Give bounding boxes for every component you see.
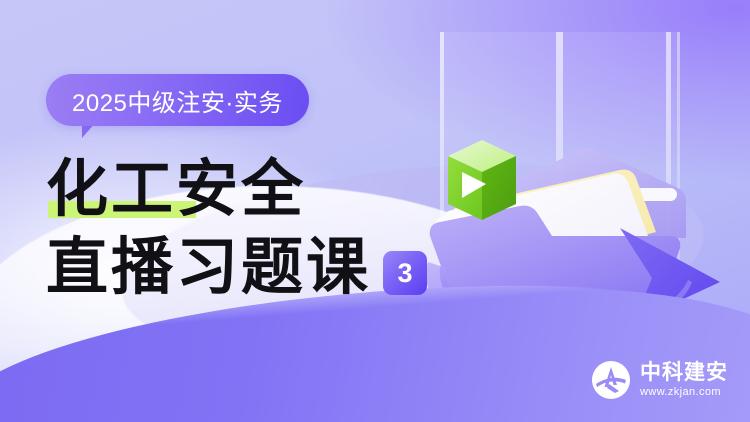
zkjan-circle-mark-icon bbox=[591, 360, 631, 400]
episode-number-badge: 3 bbox=[383, 251, 427, 295]
brand-url: www.zkjan.com bbox=[640, 386, 728, 398]
brand-logo: 中科建安 www.zkjan.com bbox=[591, 360, 728, 400]
brand-name: 中科建安 bbox=[640, 362, 728, 384]
title-line-1: 化工安全 bbox=[46, 158, 306, 222]
course-category-tag-label: 2025中级注安·实务 bbox=[72, 83, 283, 118]
title-line-2-row: 直播习题课 3 bbox=[46, 230, 427, 300]
course-category-tag: 2025中级注安·实务 bbox=[46, 74, 309, 126]
title-line-2: 直播习题课 bbox=[46, 236, 371, 300]
title-block: 化工安全 直播习题课 3 bbox=[46, 152, 427, 300]
title-line-1-row: 化工安全 bbox=[46, 152, 427, 222]
green-cube bbox=[448, 140, 516, 220]
course-promo-banner: 2025中级注安·实务 化工安全 直播习题课 3 中科建安 www.zkjan.… bbox=[0, 0, 750, 422]
